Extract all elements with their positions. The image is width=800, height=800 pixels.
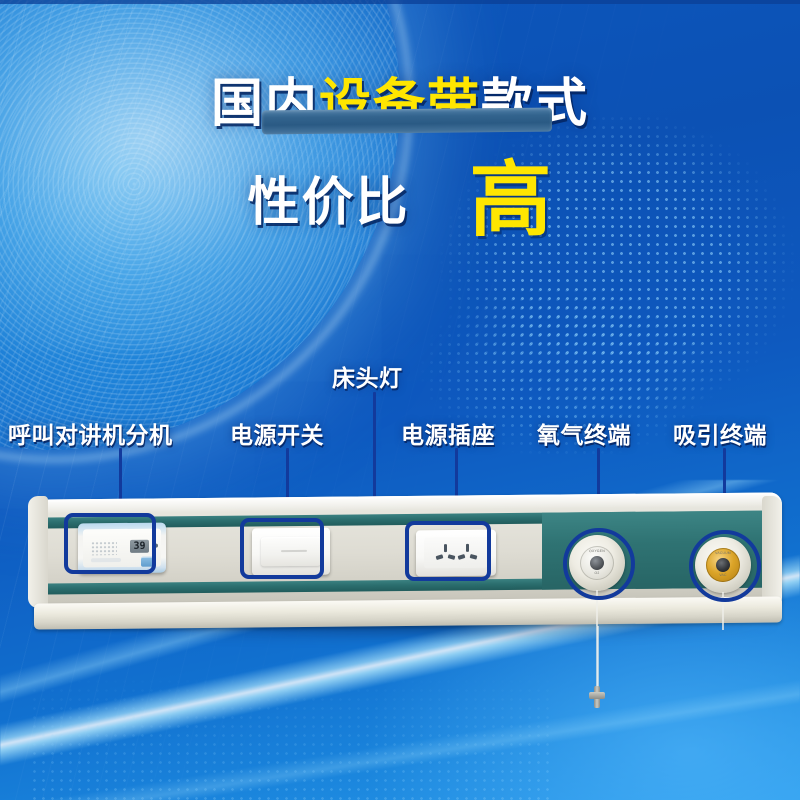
panel-top-highlight (34, 492, 782, 513)
headline-line2-emphasis: 高 (470, 160, 553, 242)
pull-cord-handle[interactable] (589, 686, 605, 708)
highlight-box-power-socket (405, 521, 491, 581)
highlight-box-power-switch (240, 518, 324, 579)
headline-block: 国内设备带款式 性价比 高 (0, 78, 800, 234)
highlight-circle-suction (689, 530, 761, 602)
callout-label-oxygen-terminal: 氧气终端 (537, 416, 631, 450)
top-edge-bar (0, 0, 800, 4)
callout-label-suction-terminal: 吸引终端 (673, 416, 767, 450)
pull-handle-crossbar (589, 692, 605, 699)
callout-label-power-socket: 电源插座 (401, 416, 495, 450)
bed-lamp-cover (262, 108, 552, 135)
headline-line2-text: 性价比 (247, 177, 409, 229)
highlight-circle-oxygen (563, 528, 635, 600)
callout-label-power-switch: 电源开关 (230, 416, 324, 450)
halftone-dot-map-bottom (30, 650, 550, 800)
callout-label-bed-lamp: 床头灯 (332, 359, 403, 393)
highlight-box-intercom (64, 513, 156, 574)
panel-end-cap-left (28, 496, 48, 608)
headline-line-2: 性价比 高 (0, 152, 800, 234)
callout-label-intercom: 呼叫对讲机分机 (8, 416, 173, 450)
pull-cord[interactable] (596, 626, 599, 692)
product-poster: 国内设备带款式 性价比 高 呼叫对讲机分机 电源开关 床头灯 电源插座 氧气终端… (0, 0, 800, 800)
panel-end-cap-right (762, 496, 782, 608)
